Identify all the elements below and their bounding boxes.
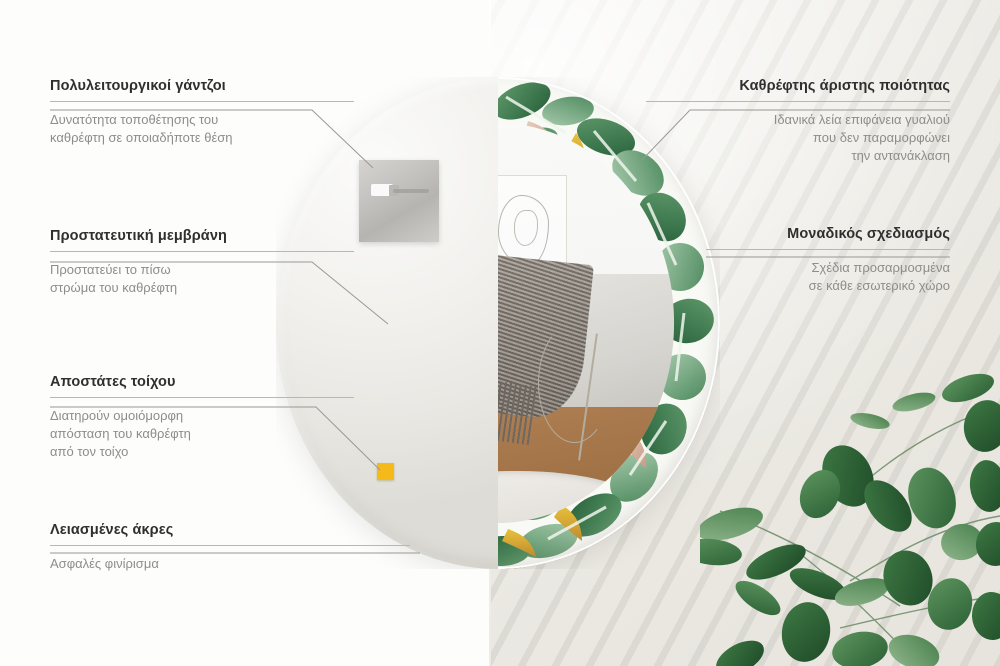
callout-hooks-title: Πολυλειτουργικοί γάντζοι <box>50 78 354 94</box>
callout-hooks-body: Δυνατότητα τοποθέτησης του καθρέφτη σε ο… <box>50 111 354 147</box>
callout-quality-body: Ιδανικά λεία επιφάνεια γυαλιού που δεν π… <box>646 111 950 165</box>
callout-spacers: Αποστάτες τοίχου Διατηρούν ομοιόμορφη απ… <box>50 374 354 461</box>
wall-spacer-block <box>377 463 394 480</box>
callout-quality-rule <box>646 101 950 102</box>
callout-edges: Λειασμένες άκρες Ασφαλές φινίρισμα <box>50 522 410 573</box>
infographic-canvas: Πολυλειτουργικοί γάντζοι Δυνατότητα τοπο… <box>0 0 1000 666</box>
callout-edges-title: Λειασμένες άκρες <box>50 522 410 538</box>
callout-edges-body: Ασφαλές φινίρισμα <box>50 555 410 573</box>
hook-bar-icon <box>393 189 429 193</box>
callout-hooks: Πολυλειτουργικοί γάντζοι Δυνατότητα τοπο… <box>50 78 354 147</box>
callout-spacers-body: Διατηρούν ομοιόμορφη απόσταση του καθρέφ… <box>50 407 354 461</box>
callout-spacers-rule <box>50 397 354 398</box>
callout-spacers-title: Αποστάτες τοίχου <box>50 374 354 390</box>
callout-design: Μοναδικός σχεδιασμός Σχέδια προσαρμοσμέν… <box>706 226 950 295</box>
callout-hooks-rule <box>50 101 354 102</box>
callout-quality-title: Καθρέφτης άριστης ποιότητας <box>646 78 950 94</box>
callout-membrane-body: Προστατεύει το πίσω στρώμα του καθρέφτη <box>50 261 354 297</box>
callout-edges-rule <box>50 545 410 546</box>
callout-membrane: Προστατευτική μεμβράνη Προστατεύει το πί… <box>50 228 354 297</box>
callout-design-body: Σχέδια προσαρμοσμένα σε κάθε εσωτερικό χ… <box>706 259 950 295</box>
hook-plate <box>359 160 439 242</box>
callout-design-title: Μοναδικός σχεδιασμός <box>706 226 950 242</box>
callout-quality: Καθρέφτης άριστης ποιότητας Ιδανικά λεία… <box>646 78 950 165</box>
callout-design-rule <box>706 249 950 250</box>
callout-membrane-rule <box>50 251 354 252</box>
callout-membrane-title: Προστατευτική μεμβράνη <box>50 228 354 244</box>
